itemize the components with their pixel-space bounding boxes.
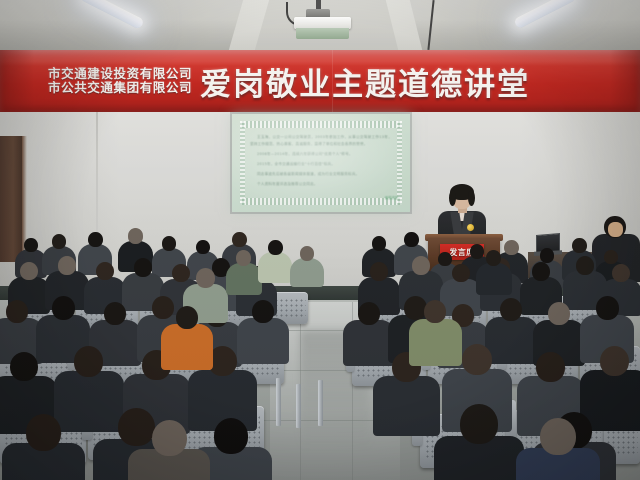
audience-member-head bbox=[370, 262, 388, 281]
audience-member-head bbox=[548, 302, 570, 325]
chair-leg bbox=[276, 378, 281, 426]
audience-member-head bbox=[462, 344, 492, 375]
audience-member-head bbox=[536, 352, 565, 382]
audience-member-head bbox=[24, 238, 38, 252]
ceiling bbox=[0, 0, 640, 52]
audience-member-head bbox=[504, 240, 519, 255]
audience-member-torso bbox=[343, 320, 395, 366]
speaker-hair-side-right bbox=[468, 190, 475, 206]
audience-member-head bbox=[26, 414, 61, 451]
screen-frame bbox=[230, 112, 412, 214]
audience-member-torso bbox=[258, 252, 292, 282]
audience-member-head bbox=[10, 352, 38, 381]
projector-lower-housing bbox=[296, 28, 349, 39]
audience-member-head bbox=[88, 232, 103, 247]
audience-member-head bbox=[196, 268, 215, 288]
audience-member-head bbox=[470, 244, 484, 259]
audience-member-head bbox=[486, 250, 501, 266]
ceiling-beam-left bbox=[229, 0, 269, 50]
banner-edge-right bbox=[610, 50, 640, 112]
audience-member-head bbox=[6, 300, 28, 323]
audience-member-head bbox=[128, 228, 143, 244]
audience-member-head bbox=[604, 250, 618, 264]
banner-title: 爱岗敬业主题道德讲堂 bbox=[200, 59, 530, 104]
audience-member-head bbox=[452, 264, 470, 282]
audience-member-head bbox=[540, 248, 554, 263]
audience-member-head bbox=[52, 296, 75, 320]
audience-member-torso bbox=[373, 376, 441, 436]
audience-member-head bbox=[404, 232, 419, 247]
audience-member-head bbox=[118, 408, 155, 446]
banner-edge-left bbox=[0, 50, 34, 112]
projection-screen: 王玉海，公交一公司公交驾驶员，2003年参加工作，从事公交驾驶工作13年，坚持工… bbox=[232, 114, 410, 212]
audience-member-torso bbox=[476, 263, 512, 295]
banner-org-line-2: 市公共交通集团有限公司 bbox=[48, 81, 192, 96]
audience-member-head bbox=[52, 234, 66, 249]
audience-member-torso bbox=[226, 263, 262, 295]
banner-organization-names: 市交通建设投资有限公司 市公共交通集团有限公司 bbox=[48, 67, 192, 96]
audience-member-head bbox=[20, 262, 38, 280]
audience-member-head bbox=[104, 302, 126, 325]
red-banner: 市交通建设投资有限公司 市公共交通集团有限公司 爱岗敬业主题道德讲堂 bbox=[0, 50, 640, 112]
audience-member-head bbox=[300, 246, 314, 261]
audience-member-head bbox=[152, 420, 187, 456]
audience-member-torso bbox=[237, 318, 289, 364]
audience-member-head bbox=[372, 236, 386, 251]
audience-member-head bbox=[358, 302, 380, 325]
audience-member-head bbox=[214, 418, 248, 454]
ceiling-shadow-left bbox=[0, 20, 240, 52]
audience-member-torso bbox=[409, 319, 462, 366]
audience-member-head bbox=[268, 240, 283, 255]
audience-member-head bbox=[232, 232, 247, 247]
audience-member-head bbox=[196, 240, 210, 254]
chair-leg bbox=[318, 380, 323, 426]
audience-member-head bbox=[612, 264, 630, 282]
audience-member-torso bbox=[161, 324, 213, 370]
speaker-hair-side-left bbox=[449, 190, 456, 206]
audience-member-head bbox=[96, 262, 114, 280]
audience-member-torso bbox=[485, 317, 538, 364]
audience-member-head bbox=[438, 252, 452, 266]
audience-member-torso bbox=[54, 371, 124, 433]
banner-org-line-1: 市交通建设投资有限公司 bbox=[48, 67, 192, 82]
audience-member-head bbox=[162, 236, 176, 251]
side-person-face bbox=[608, 222, 623, 237]
audience-member-head bbox=[134, 258, 152, 277]
audience-member-head bbox=[176, 306, 198, 329]
audience-member-head bbox=[460, 404, 498, 444]
audience-member-head bbox=[540, 418, 576, 455]
audience-member-head bbox=[172, 264, 190, 282]
audience-member-head bbox=[600, 346, 629, 376]
audience-member-head bbox=[532, 262, 550, 281]
audience-member-head bbox=[74, 346, 103, 377]
door-frame bbox=[0, 136, 24, 262]
audience-member-torso bbox=[290, 258, 323, 287]
meeting-room-photo: 市交通建设投资有限公司 市公共交通集团有限公司 爱岗敬业主题道德讲堂 王玉海，公… bbox=[0, 0, 640, 480]
chair-leg bbox=[296, 384, 301, 428]
audience-member-head bbox=[236, 250, 251, 266]
speaker-badge bbox=[467, 224, 474, 231]
audience-member-head bbox=[572, 238, 587, 253]
audience-member-head bbox=[252, 300, 274, 323]
audience-member-head bbox=[596, 296, 619, 320]
